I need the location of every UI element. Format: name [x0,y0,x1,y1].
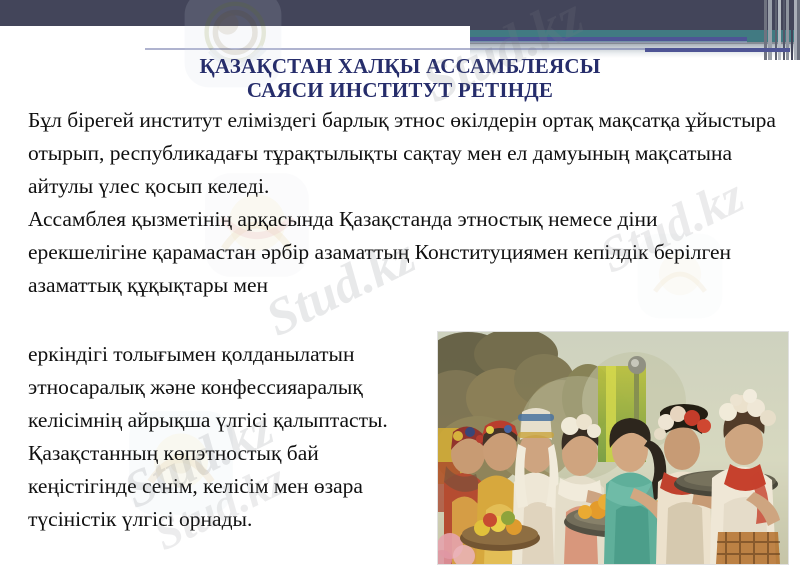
title-line-1: ҚАЗАҚСТАН ХАЛҚЫ АССАМБЛЕЯСЫ [199,54,600,78]
body-bottom-paragraph-2: Қазақстанның көпэтностық бай кеңістігінд… [28,437,428,536]
slide-photo [438,332,788,564]
title-line-2: САЯСИ ИНСТИТУТ РЕТІНДЕ [0,78,800,102]
body-bottom-paragraph-1: еркіндігі толығымен қолданылатын этносар… [28,338,428,437]
body-text-bottom: еркіндігі толығымен қолданылатын этносар… [28,338,428,536]
header-accent-bar-top [470,37,747,41]
body-top-paragraph-1: Бұл бірегей институт еліміздегі барлық э… [28,104,780,203]
header-accent-bar-bottom [645,48,790,52]
body-text-top: Бұл бірегей институт еліміздегі барлық э… [28,104,780,302]
slide-canvas: ҚАЗАҚСТАН ХАЛҚЫ АССАМБЛЕЯСЫ САЯСИ ИНСТИТ… [0,0,800,570]
body-top-paragraph-2: Ассамблея қызметінің арқасында Қазақстан… [28,203,780,302]
slide-title: ҚАЗАҚСТАН ХАЛҚЫ АССАМБЛЕЯСЫ САЯСИ ИНСТИТ… [0,54,800,102]
